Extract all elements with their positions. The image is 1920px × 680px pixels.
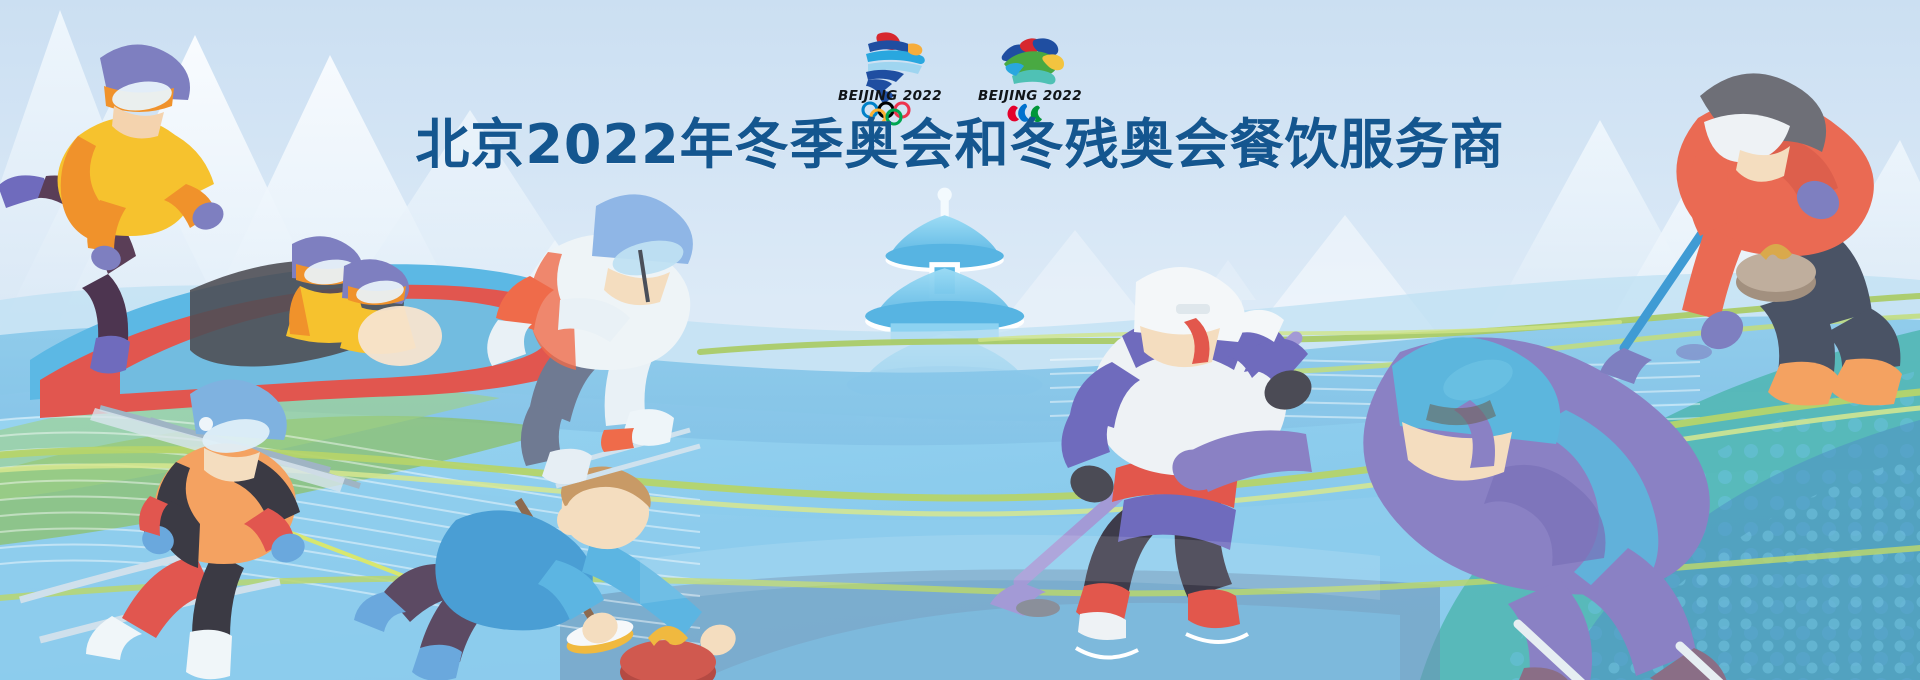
beijing-2022-olympic-emblem: BEIJING 2022 — [838, 22, 942, 126]
curler-shoe-back — [1768, 362, 1838, 406]
prop-hockey-puck — [1016, 599, 1060, 617]
agitos-symbol — [1008, 104, 1043, 122]
olympic-wordmark: BEIJING 2022 — [838, 88, 942, 104]
olympic-rings — [863, 103, 909, 124]
pusher-boot-front — [90, 336, 130, 374]
emblem-row: BEIJING 2022 BEIJING 2022 — [0, 22, 1920, 126]
beijing-2022-paralympic-emblem: BEIJING 2022 — [978, 22, 1082, 126]
paralympic-wordmark: BEIJING 2022 — [978, 88, 1082, 104]
beijing-2022-banner: BEIJING 2022 BEIJING 2022 — [0, 0, 1920, 680]
ski-boot — [186, 630, 232, 679]
paralympic-ribbon-symbol — [1002, 38, 1064, 84]
